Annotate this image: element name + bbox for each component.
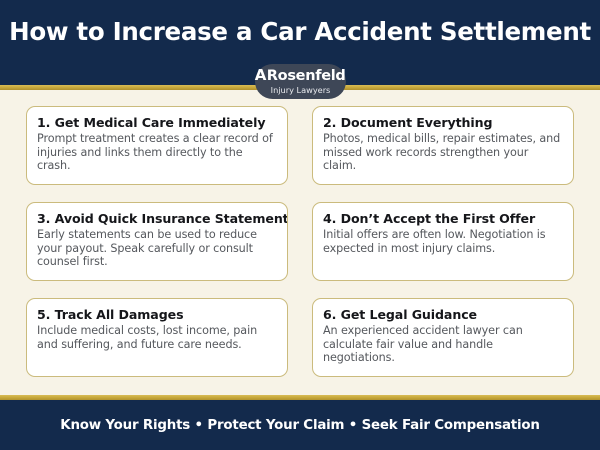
tip-card-title: 1. Get Medical Care Immediately xyxy=(37,115,277,130)
tip-card-title: 2. Document Everything xyxy=(323,115,563,130)
logo-tagline: Injury Lawyers xyxy=(271,85,331,95)
tip-card-title: 6. Get Legal Guidance xyxy=(323,307,563,322)
tip-card: 6. Get Legal Guidance An experienced acc… xyxy=(312,298,574,377)
page-title: How to Increase a Car Accident Settlemen… xyxy=(9,17,591,46)
tip-card: 3. Avoid Quick Insurance Statements Earl… xyxy=(26,202,288,281)
tip-card-title: 4. Don’t Accept the First Offer xyxy=(323,211,563,226)
logo-name: Rosenfeld xyxy=(267,69,346,84)
tip-card-body: Prompt treatment creates a clear record … xyxy=(37,132,277,173)
logo-mark-icon: A xyxy=(255,68,266,83)
tip-card: 5. Track All Damages Include medical cos… xyxy=(26,298,288,377)
tip-card-body: Early statements can be used to reduce y… xyxy=(37,228,277,269)
tip-card: 4. Don’t Accept the First Offer Initial … xyxy=(312,202,574,281)
logo-wordmark: ARosenfeld xyxy=(255,68,345,84)
tip-card-body: An experienced accident lawyer can calcu… xyxy=(323,324,563,365)
tip-card-body: Include medical costs, lost income, pain… xyxy=(37,324,277,351)
tip-card: 2. Document Everything Photos, medical b… xyxy=(312,106,574,185)
footer-banner: Know Your Rights • Protect Your Claim • … xyxy=(0,400,600,450)
tip-card-body: Photos, medical bills, repair estimates,… xyxy=(323,132,563,173)
tip-card-title: 5. Track All Damages xyxy=(37,307,277,322)
brand-logo: ARosenfeld Injury Lawyers xyxy=(255,64,346,99)
tips-grid: 1. Get Medical Care Immediately Prompt t… xyxy=(26,106,574,377)
footer-tagline: Know Your Rights • Protect Your Claim • … xyxy=(60,418,539,433)
tip-card-title: 3. Avoid Quick Insurance Statements xyxy=(37,211,277,226)
infographic-root: How to Increase a Car Accident Settlemen… xyxy=(0,0,600,450)
content-area: 1. Get Medical Care Immediately Prompt t… xyxy=(0,90,600,395)
tip-card-body: Initial offers are often low. Negotiatio… xyxy=(323,228,563,255)
tip-card: 1. Get Medical Care Immediately Prompt t… xyxy=(26,106,288,185)
